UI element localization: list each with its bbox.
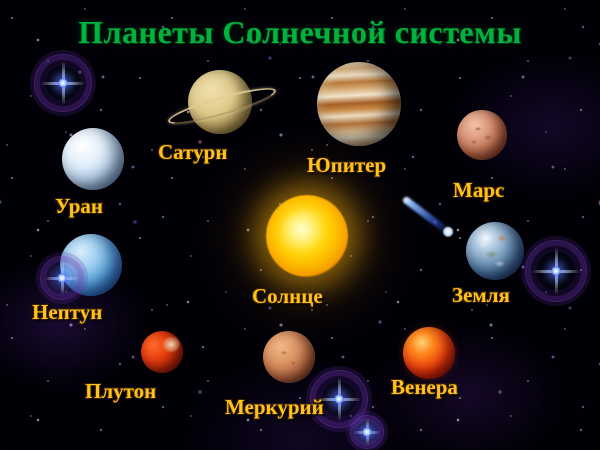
planet-label-earth: Земля [452, 283, 510, 308]
planet-label-pluto: Плутон [85, 379, 156, 404]
star-flare-icon [40, 256, 84, 300]
planet-venus [403, 327, 455, 379]
star-flare-icon [34, 54, 92, 112]
planet-earth [466, 222, 524, 280]
planet-label-jupiter: Юпитер [307, 153, 386, 178]
planet-pluto [141, 331, 183, 373]
planet-saturn [188, 70, 252, 134]
planet-label-venus: Венера [391, 375, 458, 400]
star-flare-icon [525, 240, 587, 302]
planet-mars [457, 110, 507, 160]
planet-jupiter [317, 62, 401, 146]
page-title: Планеты Солнечной системы [0, 14, 600, 51]
planet-label-saturn: Сатурн [158, 140, 227, 165]
planet-uranus [62, 128, 124, 190]
planet-mercury [263, 331, 315, 383]
flare-core [551, 266, 561, 276]
flare-core [362, 427, 372, 437]
planet-label-sun: Солнце [252, 284, 323, 309]
flare-core [334, 394, 344, 404]
star-flare-icon [350, 415, 384, 449]
planet-label-mercury: Меркурий [225, 395, 324, 420]
solar-system-poster: Планеты Солнечной системы Сатурн Юпитер … [0, 0, 600, 450]
flare-core [57, 273, 67, 283]
planet-label-neptune: Нептун [32, 300, 102, 325]
flare-core [58, 78, 68, 88]
planet-sun [266, 195, 348, 277]
planet-label-mars: Марс [453, 178, 504, 203]
planet-label-uranus: Уран [55, 194, 103, 219]
